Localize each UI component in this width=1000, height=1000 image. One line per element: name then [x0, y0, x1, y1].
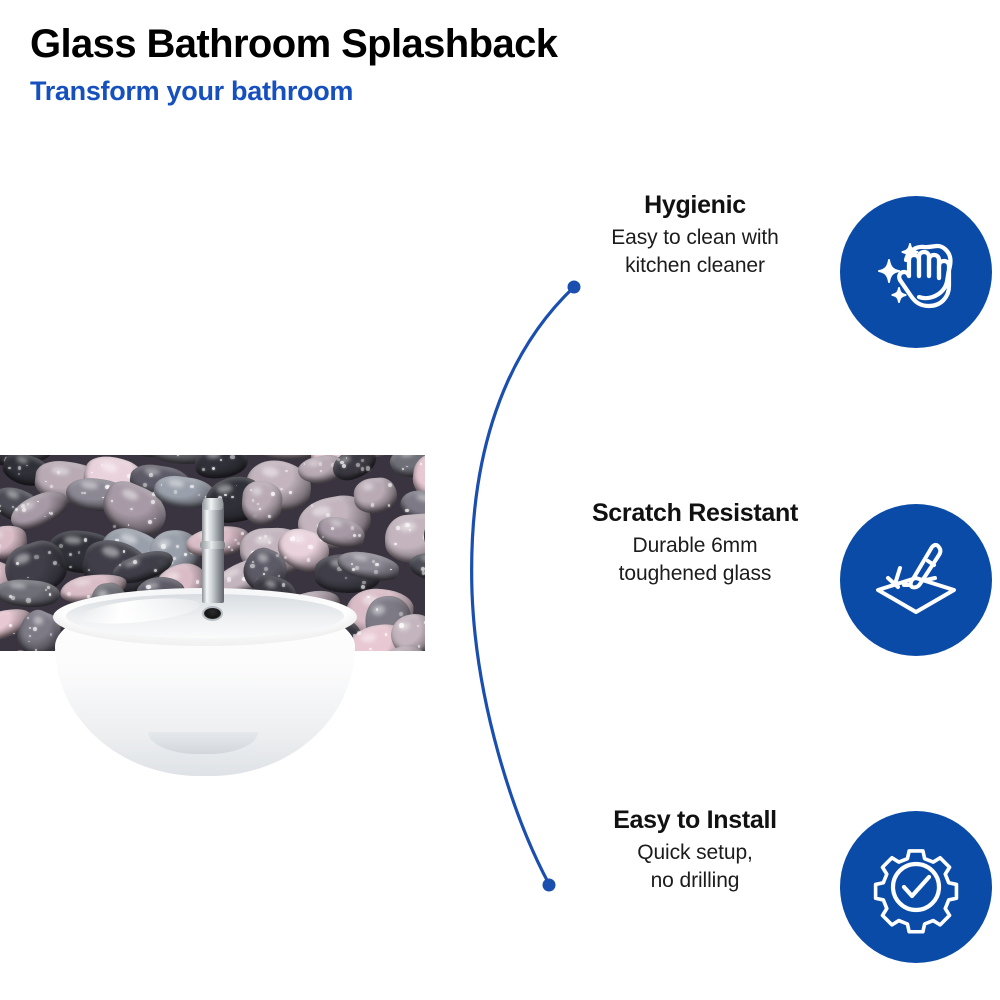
feature-title: Easy to Install — [500, 805, 890, 836]
water-droplet — [290, 537, 294, 541]
water-droplet — [250, 489, 252, 491]
water-droplet — [420, 463, 421, 464]
water-droplet — [177, 455, 179, 456]
feature-easy-to-install: Easy to Install Quick setup, no drilling — [500, 805, 1000, 970]
water-droplet — [396, 526, 400, 530]
header: Glass Bathroom Splashback Transform your… — [30, 22, 810, 107]
water-droplet — [26, 465, 27, 466]
feature-text-block: Easy to Install Quick setup, no drilling — [500, 805, 890, 896]
basin-overflow-hole — [204, 608, 221, 619]
feature-text-block: Scratch Resistant Durable 6mm toughened … — [500, 498, 890, 589]
water-droplet — [8, 467, 10, 469]
water-droplet — [37, 501, 38, 502]
water-droplet — [143, 483, 147, 487]
water-droplet — [311, 504, 313, 506]
feature-description-line-2: no drilling — [500, 867, 890, 896]
water-droplet — [151, 500, 155, 504]
page-title: Glass Bathroom Splashback — [30, 22, 810, 67]
feature-description-line-2: toughened glass — [500, 560, 890, 589]
feature-icon-badge — [840, 196, 992, 348]
water-droplet — [113, 525, 117, 529]
feature-description: Easy to clean with kitchen cleaner — [500, 224, 890, 282]
water-droplet — [289, 491, 292, 494]
water-droplet — [284, 556, 287, 559]
feature-scratch-resistant: Scratch Resistant Durable 6mm toughened … — [500, 498, 1000, 663]
feature-hygienic: Hygienic Easy to clean with kitchen clea… — [500, 190, 1000, 355]
chrome-tap — [202, 500, 224, 603]
page-subtitle: Transform your bathroom — [30, 75, 810, 107]
water-droplet — [12, 506, 14, 508]
water-droplet — [224, 494, 226, 496]
feature-title: Scratch Resistant — [500, 498, 890, 529]
water-droplet — [366, 466, 370, 470]
water-droplet — [405, 523, 409, 527]
feature-title: Hygienic — [500, 190, 890, 221]
water-droplet — [388, 483, 392, 487]
hand-wiping-sparkle-icon — [864, 220, 968, 324]
water-droplet — [230, 455, 234, 459]
water-droplet — [161, 544, 165, 548]
water-droplet — [49, 512, 50, 513]
water-droplet — [257, 503, 259, 505]
water-droplet — [184, 553, 186, 555]
feature-icon-badge — [840, 811, 992, 963]
water-droplet — [259, 508, 261, 510]
water-droplet — [27, 503, 29, 505]
water-droplet — [308, 545, 312, 549]
water-droplet — [351, 526, 355, 530]
feature-description: Quick setup, no drilling — [500, 839, 890, 897]
chrome-tap-head — [203, 498, 223, 510]
water-droplet — [202, 468, 205, 471]
water-droplet — [276, 554, 279, 557]
water-droplet — [57, 471, 60, 474]
water-droplet — [340, 461, 344, 465]
water-droplet — [361, 459, 363, 461]
water-droplet — [84, 492, 86, 494]
water-droplet — [361, 467, 364, 470]
chrome-tap-lever — [200, 541, 225, 549]
water-droplet — [128, 524, 130, 526]
water-droplet — [149, 473, 153, 477]
gear-checkmark-icon — [864, 835, 968, 939]
water-droplet — [174, 490, 177, 493]
feature-icon-badge — [840, 504, 992, 656]
water-droplet — [234, 539, 236, 541]
feature-description-line-1: Durable 6mm — [500, 532, 890, 561]
knife-scratch-surface-icon — [864, 528, 968, 632]
water-droplet — [130, 508, 133, 511]
water-droplet — [148, 520, 152, 524]
infographic-page: Glass Bathroom Splashback Transform your… — [0, 0, 1000, 1000]
water-droplet — [231, 496, 233, 498]
feature-description-line-1: Easy to clean with — [500, 224, 890, 253]
feature-text-block: Hygienic Easy to clean with kitchen clea… — [500, 190, 890, 281]
water-droplet — [241, 532, 244, 535]
water-droplet — [50, 485, 53, 488]
feature-description-line-1: Quick setup, — [500, 839, 890, 868]
water-droplet — [342, 464, 346, 468]
water-droplet — [228, 546, 230, 548]
feature-description-line-2: kitchen cleaner — [500, 252, 890, 281]
feature-description: Durable 6mm toughened glass — [500, 532, 890, 590]
water-droplet — [405, 509, 408, 512]
water-droplet — [101, 464, 103, 466]
pebble-stone — [241, 480, 285, 528]
water-droplet — [268, 515, 270, 517]
